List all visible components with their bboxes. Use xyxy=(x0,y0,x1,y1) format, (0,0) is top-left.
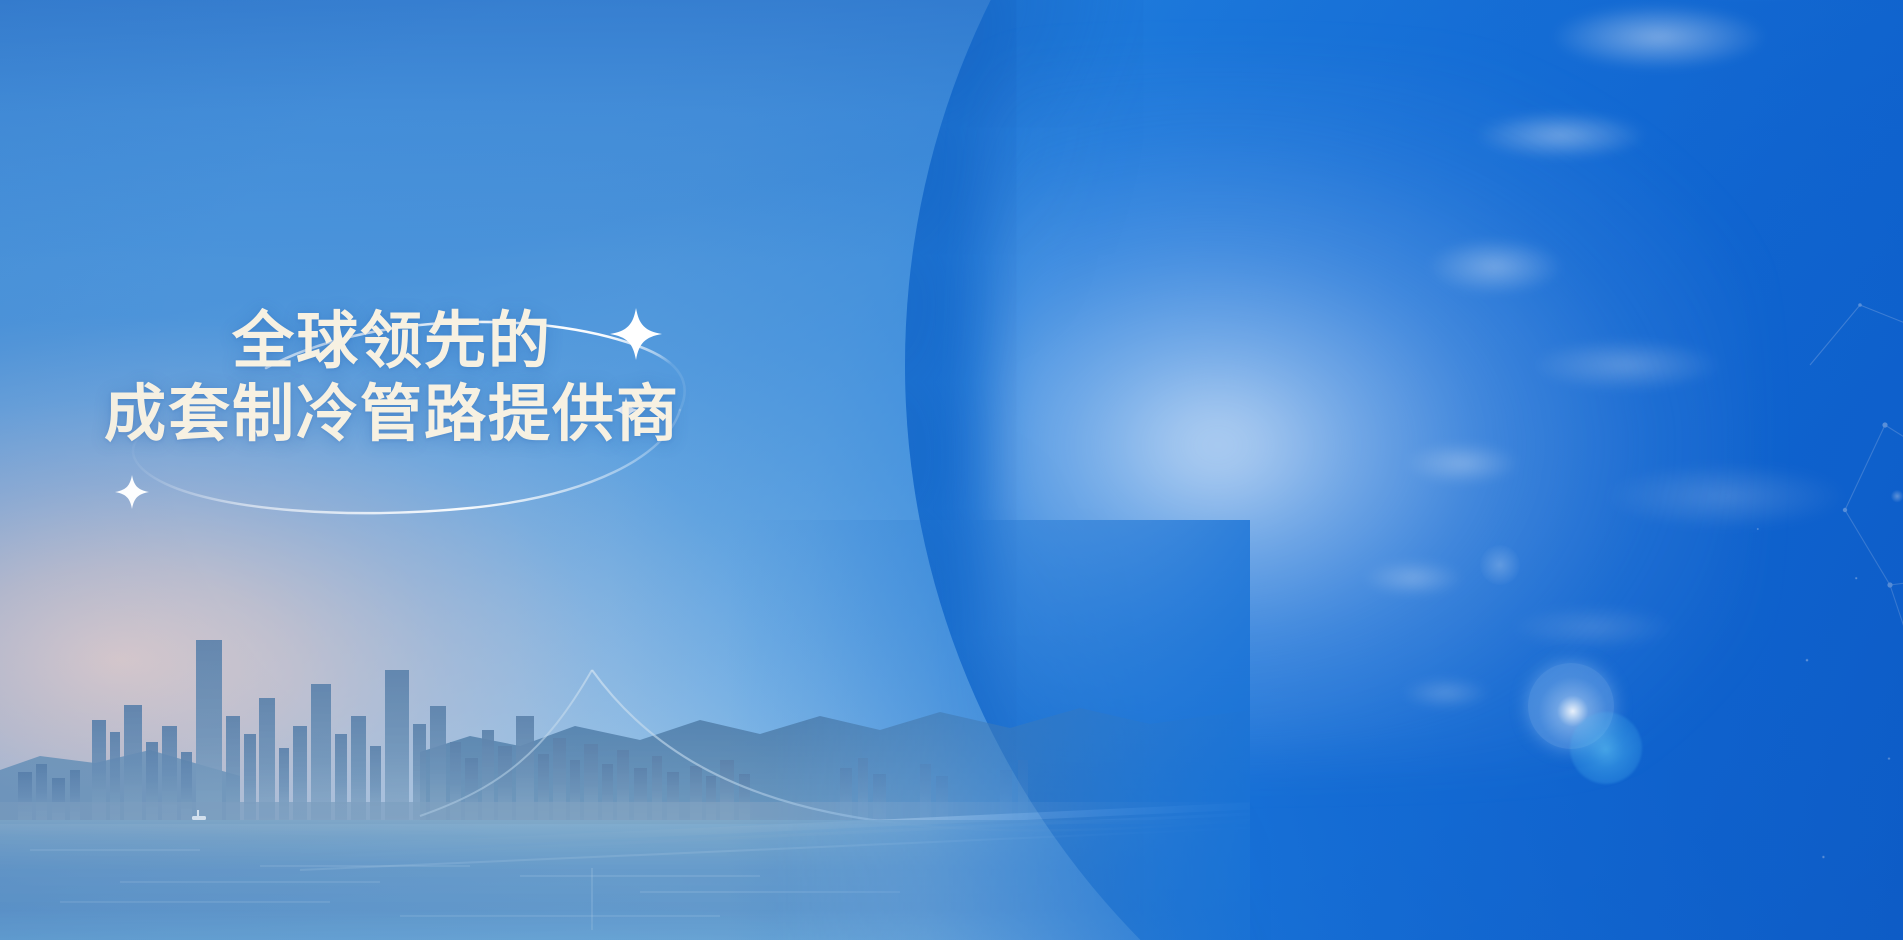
hero-banner: 全球领先的 成套制冷管路提供商 xyxy=(0,0,1903,940)
sun-bloom-glow xyxy=(990,60,1750,760)
